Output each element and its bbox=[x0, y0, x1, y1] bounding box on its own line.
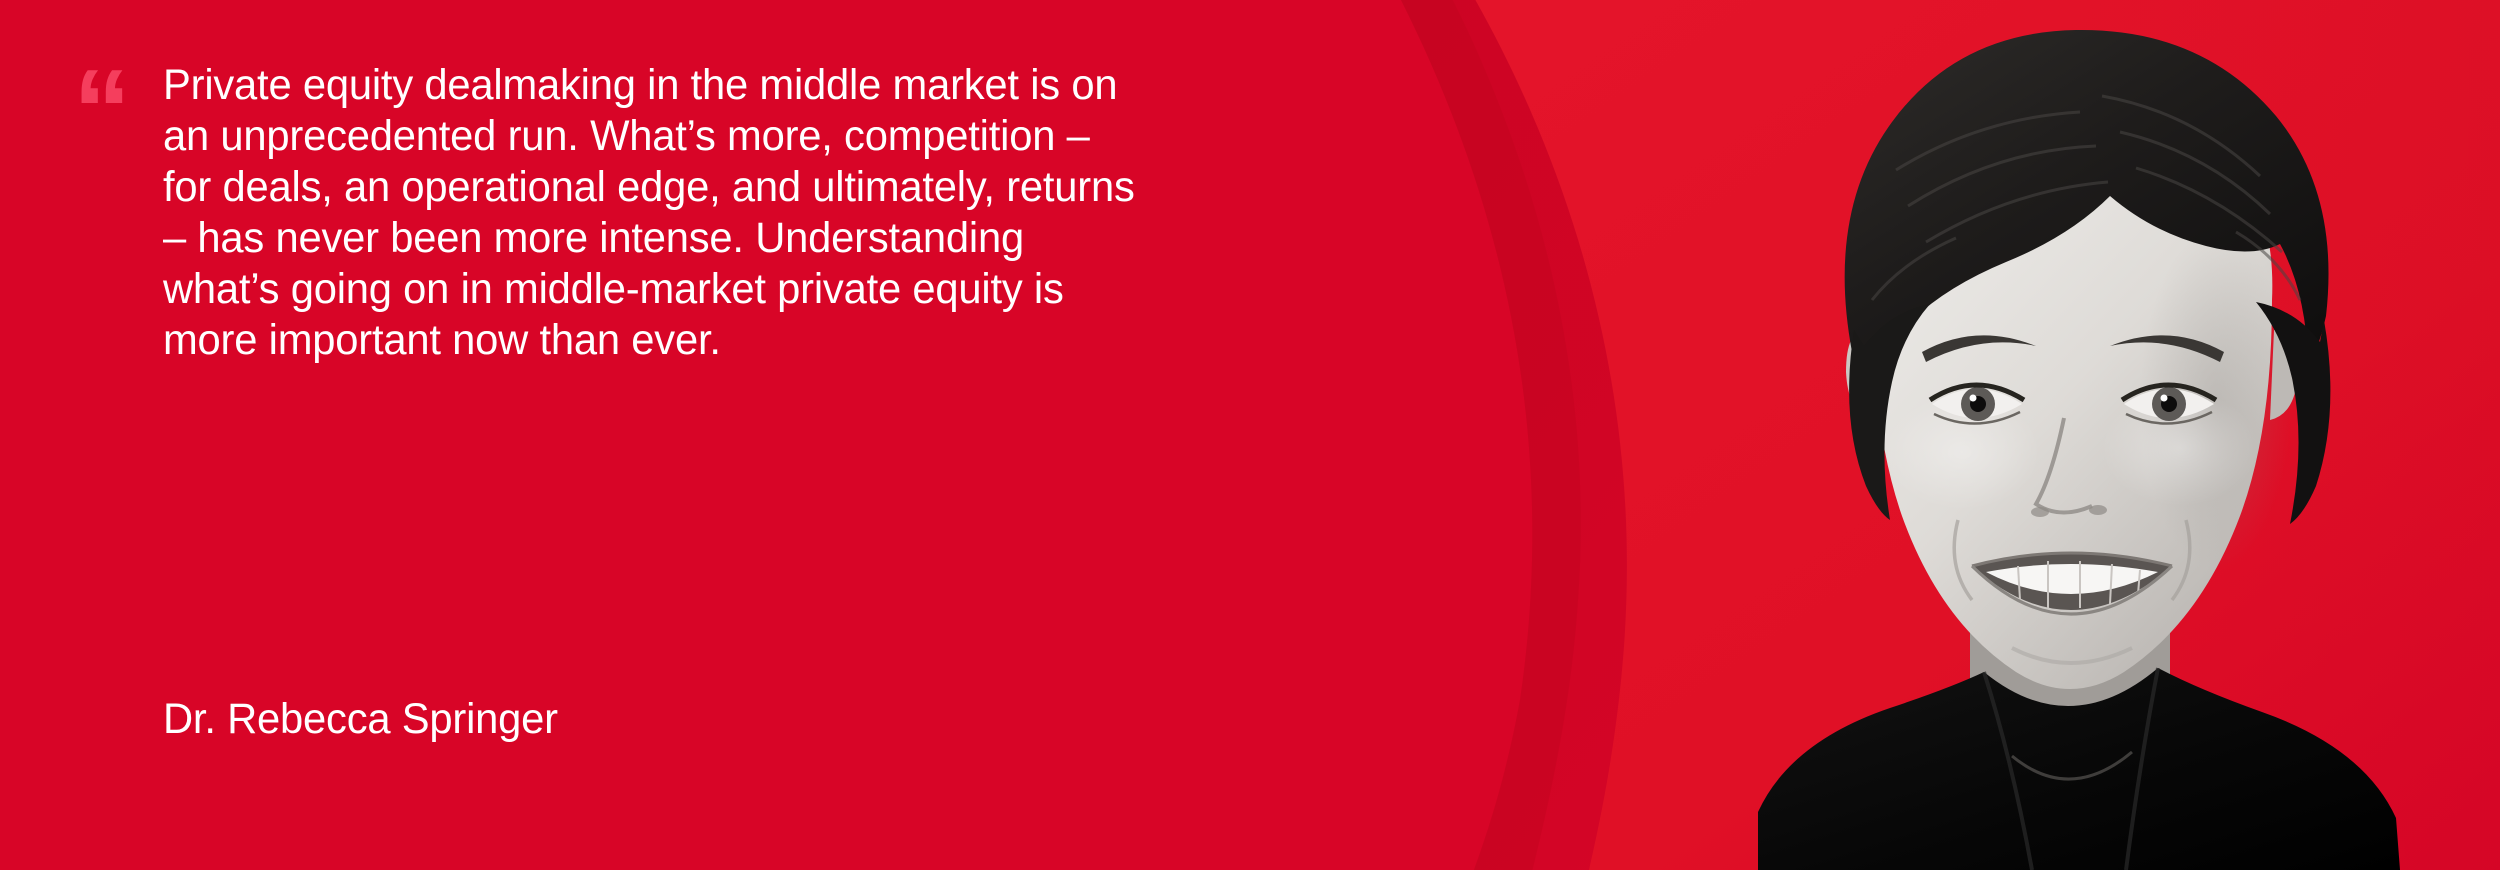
nostril-left bbox=[2031, 507, 2049, 517]
portrait-illustration bbox=[1640, 0, 2500, 870]
eye-right bbox=[2122, 385, 2216, 424]
quote-line: an unprecedented run. What’s more, compe… bbox=[163, 111, 1589, 162]
portrait-photo bbox=[1640, 0, 2500, 870]
quote-line: – has never been more intense. Understan… bbox=[163, 213, 1589, 264]
quotation-mark-icon: “ bbox=[73, 52, 129, 168]
nostril-right bbox=[2089, 505, 2107, 515]
eye-left bbox=[1930, 385, 2024, 424]
quote-line: Private equity dealmaking in the middle … bbox=[163, 60, 1589, 111]
quote-line: for deals, an operational edge, and ulti… bbox=[163, 162, 1589, 213]
quote-text: Private equity dealmaking in the middle … bbox=[163, 52, 1633, 366]
quote-line: more important now than ever. bbox=[163, 315, 1589, 366]
quote-line: what’s going on in middle-market private… bbox=[163, 264, 1589, 315]
quote-attribution: Dr. Rebecca Springer bbox=[163, 694, 558, 745]
quote-card: “ Private equity dealmaking in the middl… bbox=[0, 0, 2500, 870]
quote-block: “ Private equity dealmaking in the middl… bbox=[73, 52, 1633, 366]
